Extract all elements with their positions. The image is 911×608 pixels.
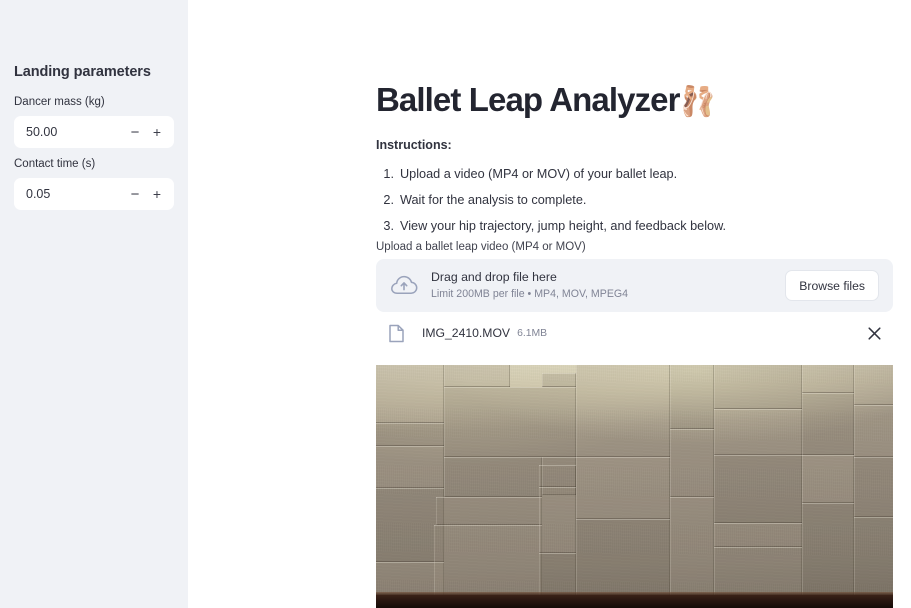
field-contact-time: Contact time (s) 0.05 − +	[14, 156, 174, 210]
main-content: Ballet Leap Analyzer🩰 Instructions: 1. U…	[188, 0, 911, 608]
field-dancer-mass: Dancer mass (kg) 50.00 − +	[14, 94, 174, 148]
sidebar-title: Landing parameters	[14, 64, 151, 80]
sidebar: Landing parameters Dancer mass (kg) 50.0…	[0, 0, 188, 608]
contact-time-decrement-button[interactable]: −	[124, 179, 146, 209]
page-title-text: Ballet Leap Analyzer	[376, 81, 680, 118]
uploaded-file-name: IMG_2410.MOV	[422, 326, 510, 340]
list-item-text: Wait for the analysis to complete.	[400, 193, 586, 207]
dancer-mass-value[interactable]: 50.00	[14, 126, 124, 139]
dancer-mass-increment-button[interactable]: +	[146, 117, 168, 147]
dancer-mass-decrement-button[interactable]: −	[124, 117, 146, 147]
dancer-mass-input-wrapper[interactable]: 50.00 − +	[14, 116, 174, 148]
contact-time-input-wrapper[interactable]: 0.05 − +	[14, 178, 174, 210]
cloud-upload-icon	[389, 271, 419, 301]
contact-time-label: Contact time (s)	[14, 156, 174, 172]
app-root: Landing parameters Dancer mass (kg) 50.0…	[0, 0, 911, 608]
list-item: 3. View your hip trajectory, jump height…	[376, 218, 846, 235]
video-grain-overlay	[376, 365, 893, 608]
instructions-heading: Instructions:	[376, 138, 452, 152]
uploaded-file-size: 6.1MB	[517, 328, 547, 339]
file-uploader-label: Upload a ballet leap video (MP4 or MOV)	[376, 241, 586, 253]
list-item-text: Upload a video (MP4 or MOV) of your ball…	[400, 167, 677, 181]
close-icon[interactable]	[863, 322, 885, 344]
dropzone-title: Drag and drop file here	[431, 270, 785, 285]
instructions-list: 1. Upload a video (MP4 or MOV) of your b…	[376, 166, 846, 244]
browse-files-button[interactable]: Browse files	[785, 270, 879, 301]
uploaded-file-row: IMG_2410.MOV 6.1MB	[376, 318, 893, 348]
contact-time-increment-button[interactable]: +	[146, 179, 168, 209]
list-item-number: 1.	[378, 166, 394, 183]
video-frame-image	[376, 365, 893, 608]
video-preview[interactable]	[376, 365, 893, 608]
file-dropzone[interactable]: Drag and drop file here Limit 200MB per …	[376, 259, 893, 312]
contact-time-value[interactable]: 0.05	[14, 188, 124, 201]
list-item: 2. Wait for the analysis to complete.	[376, 192, 846, 209]
list-item-text: View your hip trajectory, jump height, a…	[400, 219, 726, 233]
floor-baseboard	[376, 595, 893, 608]
dropzone-limits: Limit 200MB per file • MP4, MOV, MPEG4	[431, 288, 785, 301]
dancer-mass-label: Dancer mass (kg)	[14, 94, 174, 110]
list-item-number: 3.	[378, 218, 394, 235]
document-icon	[383, 324, 409, 343]
dropzone-text: Drag and drop file here Limit 200MB per …	[431, 270, 785, 302]
list-item: 1. Upload a video (MP4 or MOV) of your b…	[376, 166, 846, 183]
list-item-number: 2.	[378, 192, 394, 209]
page-title: Ballet Leap Analyzer🩰	[376, 82, 716, 119]
ballet-shoes-icon: 🩰	[680, 86, 716, 118]
